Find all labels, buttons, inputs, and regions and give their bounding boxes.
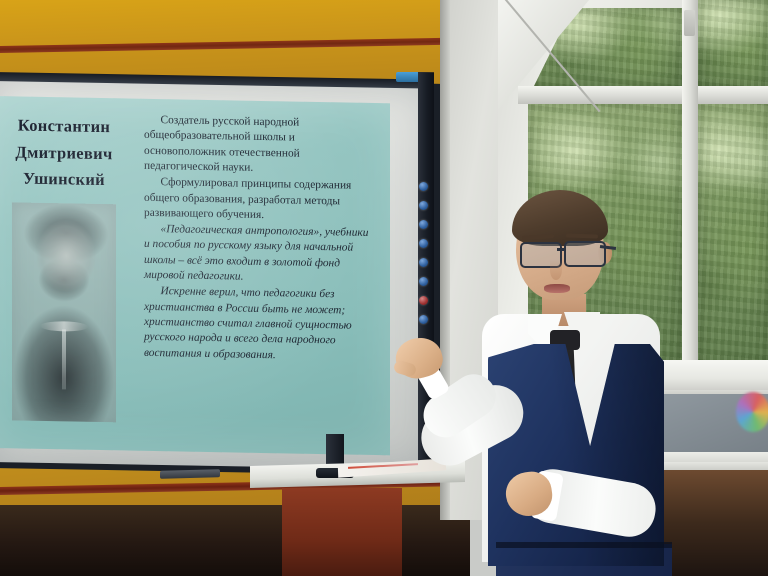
window-mullion-vertical [682,0,698,364]
glasses-bridge [557,248,566,251]
slide-title-line-2: Дмитриевич [15,139,112,167]
slide-title-line-3: Ушинский [15,166,112,194]
colorful-decoration [736,392,768,432]
slide-paragraph-4: Искренне верил, что педагогики без христ… [144,284,376,365]
portrait-coat-placket [62,329,66,389]
whiteboard-clip [396,72,420,82]
slide-title: Константин Дмитриевич Ушинский [15,112,112,194]
ushinsky-portrait [12,203,116,423]
window-vent-detail [684,10,695,36]
window-pane-top-right [698,0,768,86]
student-nose [550,260,562,280]
window-pane-bottom-right [698,104,768,364]
projected-slide: Константин Дмитриевич Ушинский Создатель… [0,96,390,455]
craft-display-table [0,500,470,576]
whiteboard-pen-tray[interactable] [160,469,220,479]
slide-title-line-1: Константин [15,112,112,140]
slide-left-column: Константин Дмитриевич Ушинский [0,96,138,451]
slide-paragraph-2: Сформулировал принципы содержания общего… [144,175,376,225]
window-mullion-horizontal [518,86,768,104]
slide-body-text: Создатель русской народной общеобразоват… [138,99,390,456]
classroom-presentation-photo: Константин Дмитриевич Ушинский Создатель… [0,0,768,576]
student-waistline [496,542,672,548]
slide-paragraph-1: Создатель русской народной общеобразоват… [144,113,376,179]
student-mouth [544,284,570,293]
slide-paragraph-3: «Педагогическая антропология», учебники … [144,222,376,288]
